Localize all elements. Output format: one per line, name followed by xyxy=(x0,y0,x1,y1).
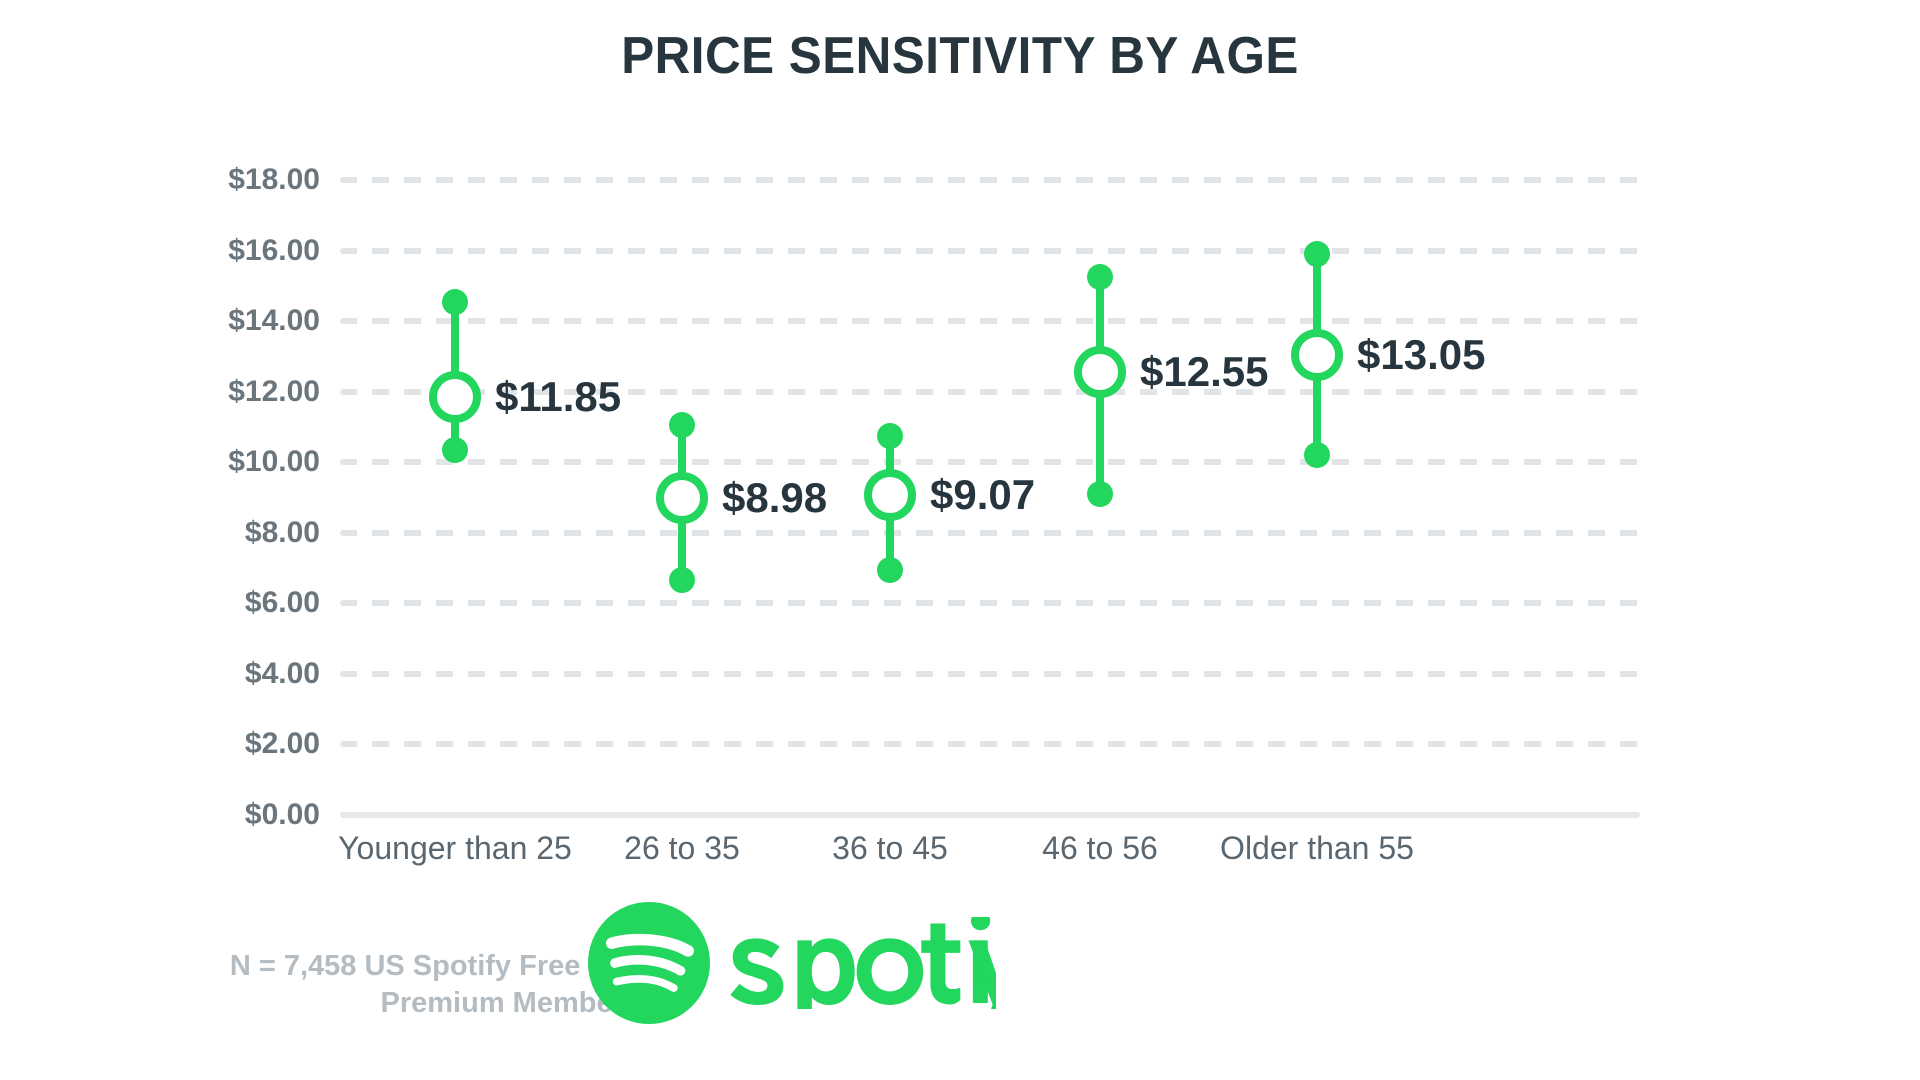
mean-marker[interactable] xyxy=(864,469,916,521)
y-axis-tick-label: $10.00 xyxy=(140,445,320,479)
gridline xyxy=(340,741,1640,747)
upper-bound-dot xyxy=(442,289,468,315)
data-value-label: $8.98 xyxy=(722,474,827,522)
gridline xyxy=(340,600,1640,606)
footnote: N = 7,458 US Spotify Free and Premium Me… xyxy=(140,948,640,1022)
x-axis-category-label: 26 to 35 xyxy=(624,830,740,867)
x-axis-category-label: 36 to 45 xyxy=(832,830,948,867)
upper-bound-dot xyxy=(669,412,695,438)
mean-marker[interactable] xyxy=(1291,329,1343,381)
upper-bound-dot xyxy=(1087,264,1113,290)
lower-bound-dot xyxy=(442,437,468,463)
gridline xyxy=(340,530,1640,536)
spotify-logo: R xyxy=(588,898,996,1028)
y-axis-tick-label: $16.00 xyxy=(140,234,320,268)
upper-bound-dot xyxy=(1304,241,1330,267)
mean-marker[interactable] xyxy=(1074,346,1126,398)
gridline xyxy=(340,459,1640,465)
mean-marker[interactable] xyxy=(656,472,708,524)
y-axis-tick-label: $14.00 xyxy=(140,304,320,338)
upper-bound-dot xyxy=(877,423,903,449)
spotify-wordmark-icon: R xyxy=(726,917,996,1009)
footnote-line-2: Premium Members xyxy=(140,985,640,1022)
mean-marker[interactable] xyxy=(429,371,481,423)
lower-bound-dot xyxy=(1087,481,1113,507)
y-axis-tick-label: $2.00 xyxy=(140,727,320,761)
data-value-label: $9.07 xyxy=(930,471,1035,519)
data-value-label: $12.55 xyxy=(1140,348,1268,396)
chart-canvas: PRICE SENSITIVITY BY AGE $18.00$16.00$14… xyxy=(0,0,1920,1080)
lower-bound-dot xyxy=(1304,442,1330,468)
y-axis-tick-label: $18.00 xyxy=(140,163,320,197)
y-axis-tick-label: $4.00 xyxy=(140,657,320,691)
data-value-label: $11.85 xyxy=(495,373,621,421)
plot-area: $18.00$16.00$14.00$12.00$10.00$8.00$6.00… xyxy=(340,180,1640,815)
axis-baseline xyxy=(340,812,1640,818)
y-axis-tick-label: $6.00 xyxy=(140,586,320,620)
gridline xyxy=(340,248,1640,254)
gridline xyxy=(340,671,1640,677)
data-value-label: $13.05 xyxy=(1357,331,1485,379)
footnote-line-1: N = 7,458 US Spotify Free and xyxy=(140,948,640,985)
y-axis-tick-label: $8.00 xyxy=(140,516,320,550)
gridline xyxy=(340,318,1640,324)
x-axis-category-label: Older than 55 xyxy=(1220,830,1414,867)
y-axis-tick-label: $0.00 xyxy=(140,798,320,832)
spotify-logo-icon xyxy=(588,902,710,1024)
y-axis-tick-label: $12.00 xyxy=(140,375,320,409)
lower-bound-dot xyxy=(669,567,695,593)
lower-bound-dot xyxy=(877,557,903,583)
gridline xyxy=(340,177,1640,183)
page-title: PRICE SENSITIVITY BY AGE xyxy=(48,26,1872,86)
x-axis-category-label: 46 to 56 xyxy=(1042,830,1158,867)
x-axis-category-label: Younger than 25 xyxy=(338,830,572,867)
